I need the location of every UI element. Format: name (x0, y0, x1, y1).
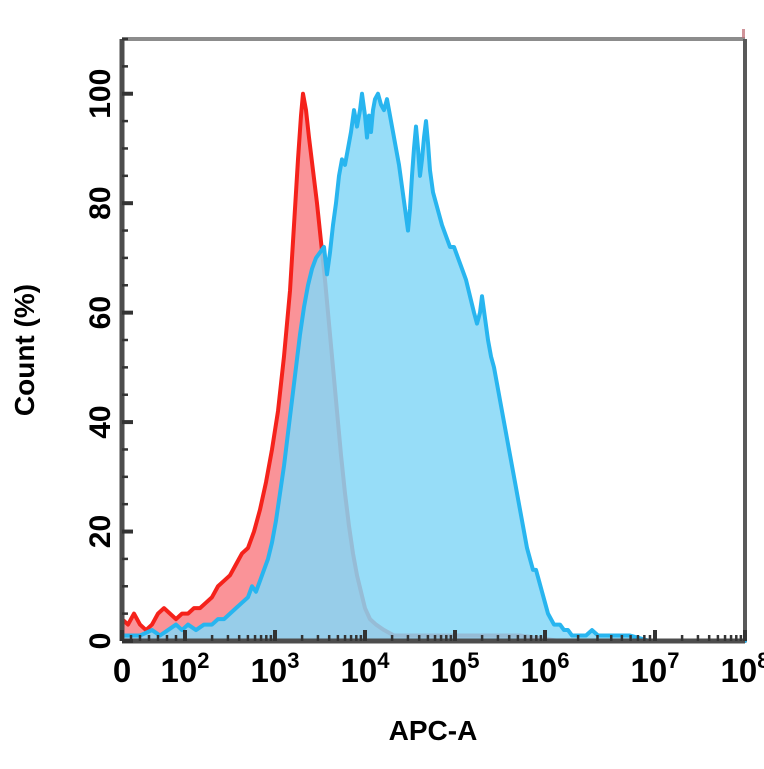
x-tick-label: 103 (251, 648, 300, 689)
x-tick-label: 105 (431, 648, 480, 689)
flow-cytometry-histogram: 020406080100 0102103104105106107108 APC-… (0, 0, 764, 764)
x-tick-label: 106 (521, 648, 570, 689)
y-tick-label: 0 (84, 633, 117, 650)
x-tick-label: 108 (721, 648, 764, 689)
y-axis-title: Count (%) (9, 284, 40, 416)
y-tick-label: 40 (84, 405, 117, 438)
x-axis-tick-labels: 0102103104105106107108 (113, 648, 764, 689)
y-axis-tick-labels: 020406080100 (84, 69, 117, 650)
y-tick-label: 80 (84, 186, 117, 219)
x-tick-label: 0 (113, 652, 131, 689)
x-tick-label: 107 (631, 648, 680, 689)
y-tick-label: 100 (84, 69, 117, 119)
y-tick-label: 60 (84, 296, 117, 329)
corner-artifact-mark (742, 29, 745, 38)
x-axis-title: APC-A (389, 715, 478, 746)
y-tick-label: 20 (84, 515, 117, 548)
chart-canvas: 020406080100 0102103104105106107108 APC-… (0, 0, 764, 764)
x-tick-label: 102 (161, 648, 210, 689)
x-tick-label: 104 (341, 648, 391, 689)
